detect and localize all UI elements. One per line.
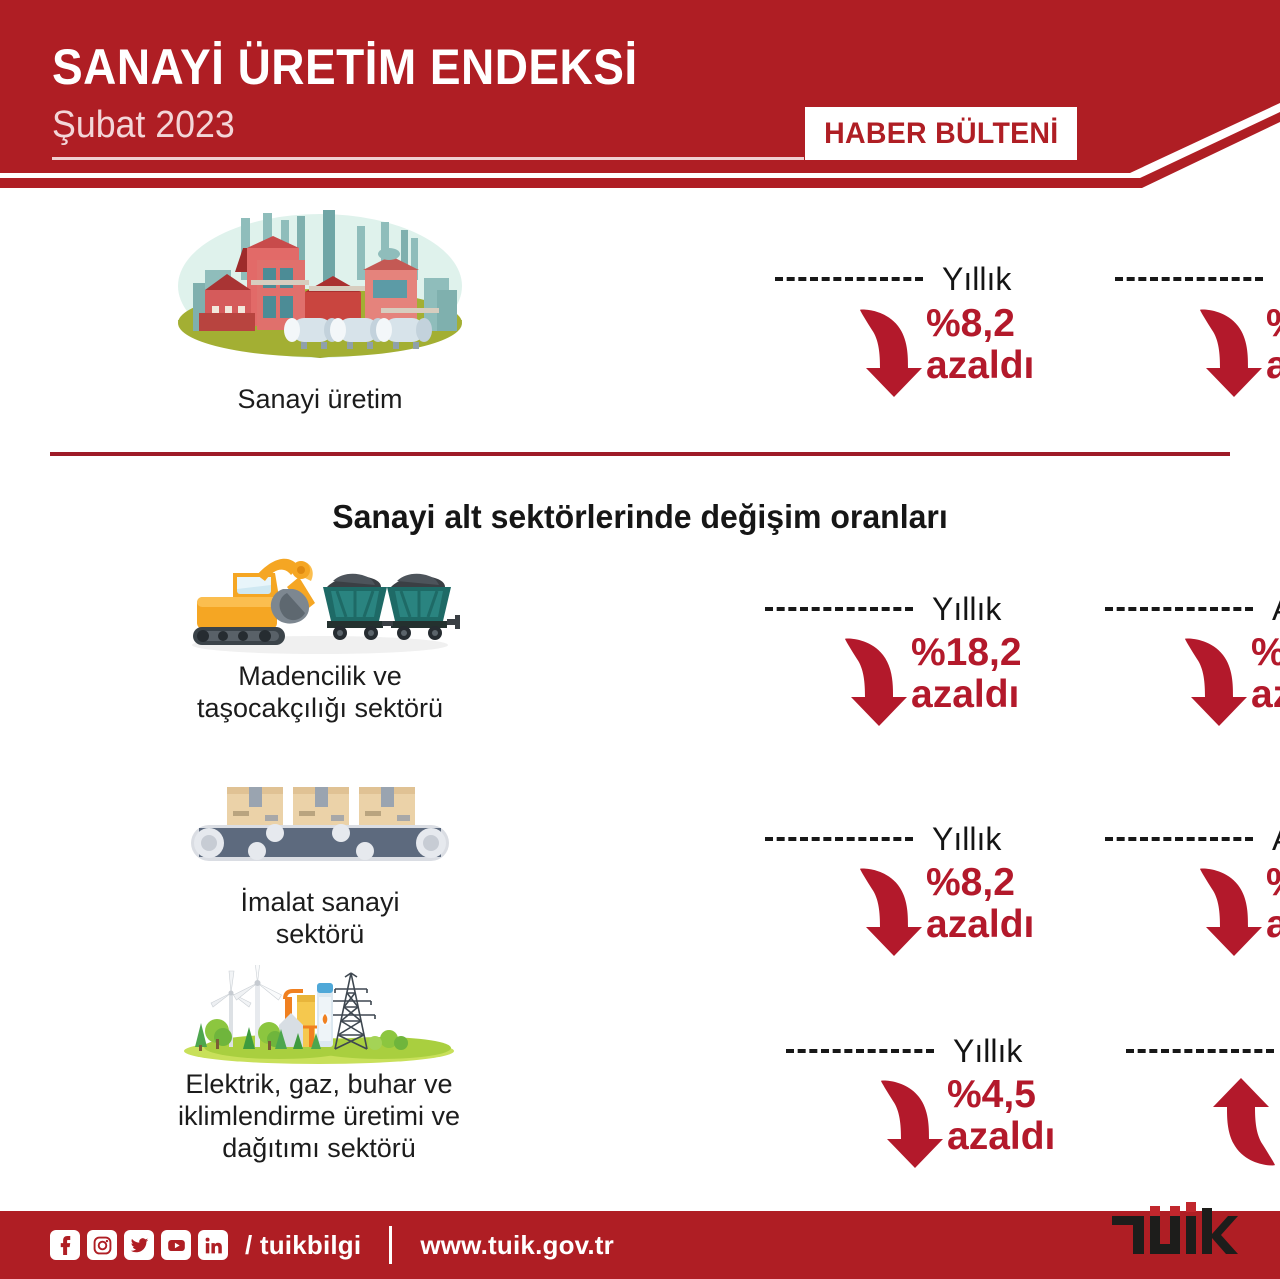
summary-monthly-header: Aylık — [1115, 263, 1280, 295]
excavator-mining-cart-illustration — [175, 545, 465, 655]
arrow-down-curved-icon — [1175, 633, 1249, 728]
sector-row-energy: Elektrik, gaz, buhar ve iklimlendirme ür… — [158, 965, 1180, 1165]
mining-illustration-cell: Madencilik ve taşocakçılığı sektörü — [170, 545, 470, 725]
manufacturing-annual-direction: azaldı — [926, 905, 1034, 945]
footer-content: / tuikbilgi www.tuik.gov.tr — [50, 1211, 614, 1279]
energy-wind-pylon-illustration — [169, 965, 469, 1065]
arrow-down-curved-icon — [1190, 863, 1264, 958]
summary-row: Sanayi üretim Yıllık Aylık %8,2 azaldı — [170, 208, 1170, 416]
annual-period-label: Yıllık — [932, 823, 1001, 855]
energy-annual-metric: %4,5 azaldı — [871, 1075, 1055, 1170]
twitter-icon[interactable] — [124, 1230, 154, 1260]
dash-line-monthly — [1115, 277, 1263, 281]
dash-line-annual — [786, 1049, 934, 1053]
manufacturing-metrics: Yıllık Aylık %8,2 azaldı % — [470, 775, 1170, 965]
header-underline — [52, 157, 804, 160]
monthly-period-label: Aylık — [1272, 593, 1280, 625]
mining-monthly-metric: %11,2 azaldı — [1175, 633, 1280, 728]
annual-period-label: Yıllık — [932, 593, 1001, 625]
energy-annual-header: Yıllık — [786, 1035, 1022, 1067]
dash-line-monthly — [1105, 837, 1253, 841]
summary-monthly-text: %6,0 azaldı — [1266, 304, 1280, 386]
mining-annual-text: %18,2 azaldı — [911, 633, 1022, 715]
manufacturing-monthly-text: %6,6 azaldı — [1266, 863, 1280, 945]
annual-period-label: Yıllık — [953, 1035, 1022, 1067]
social-links — [50, 1230, 228, 1260]
energy-annual-direction: azaldı — [947, 1117, 1055, 1157]
summary-caption: Sanayi üretim — [237, 384, 402, 416]
mining-annual-value: %18,2 — [911, 633, 1022, 673]
monthly-period-label: Aylık — [1272, 823, 1280, 855]
manufacturing-caption: İmalat sanayi sektörü — [240, 887, 399, 951]
summary-annual-metric: %8,2 azaldı — [850, 304, 1034, 399]
tuik-logo — [1108, 1196, 1238, 1258]
dash-line-annual — [765, 837, 913, 841]
page-header: SANAYİ ÜRETİM ENDEKSİ Şubat 2023 HABER B… — [0, 0, 1280, 190]
manufacturing-annual-header: Yıllık — [765, 823, 1001, 855]
section-title: Sanayi alt sektörlerinde değişim oranlar… — [19, 498, 1261, 536]
social-handle[interactable]: / tuikbilgi — [245, 1230, 361, 1261]
arrow-up-curved-icon — [1211, 1075, 1280, 1170]
footer-separator — [389, 1226, 392, 1264]
sector-row-manufacturing: İmalat sanayi sektörü Yıllık Aylık %8,2 … — [170, 775, 1170, 965]
energy-illustration-cell: Elektrik, gaz, buhar ve iklimlendirme ür… — [158, 965, 480, 1165]
energy-metrics: Yıllık Aylık %4,5 azaldı % — [480, 965, 1180, 1165]
arrow-down-curved-icon — [850, 304, 924, 399]
summary-metrics: Yıllık Aylık %8,2 azaldı — [470, 208, 1170, 408]
page-title: SANAYİ ÜRETİM ENDEKSİ — [52, 38, 638, 96]
arrow-down-curved-icon — [871, 1075, 945, 1170]
summary-annual-value: %8,2 — [926, 304, 1034, 344]
summary-annual-direction: azaldı — [926, 346, 1034, 386]
mining-monthly-text: %11,2 azaldı — [1251, 633, 1280, 715]
summary-monthly-direction: azaldı — [1266, 346, 1280, 386]
facebook-icon[interactable] — [50, 1230, 80, 1260]
manufacturing-annual-value: %8,2 — [926, 863, 1034, 903]
dash-line-monthly — [1126, 1049, 1274, 1053]
mining-monthly-value: %11,2 — [1251, 633, 1280, 673]
mining-annual-header: Yıllık — [765, 593, 1001, 625]
conveyor-belt-boxes-illustration — [175, 775, 465, 875]
factory-illustration — [175, 208, 465, 378]
youtube-icon[interactable] — [161, 1230, 191, 1260]
arrow-down-curved-icon — [835, 633, 909, 728]
mining-annual-metric: %18,2 azaldı — [835, 633, 1022, 728]
energy-annual-value: %4,5 — [947, 1075, 1055, 1115]
mining-monthly-header: Aylık — [1105, 593, 1280, 625]
website-url[interactable]: www.tuik.gov.tr — [420, 1230, 614, 1261]
manufacturing-annual-text: %8,2 azaldı — [926, 863, 1034, 945]
manufacturing-annual-metric: %8,2 azaldı — [850, 863, 1034, 958]
page-footer: / tuikbilgi www.tuik.gov.tr — [0, 1211, 1280, 1279]
summary-monthly-metric: %6,0 azaldı — [1190, 304, 1280, 399]
mining-caption: Madencilik ve taşocakçılığı sektörü — [197, 661, 443, 725]
arrow-down-curved-icon — [1190, 304, 1264, 399]
energy-monthly-metric: %1,4 arttı — [1211, 1075, 1280, 1170]
summary-annual-text: %8,2 azaldı — [926, 304, 1034, 386]
mining-monthly-direction: azaldı — [1251, 675, 1280, 715]
summary-annual-header: Yıllık — [775, 263, 1011, 295]
summary-monthly-value: %6,0 — [1266, 304, 1280, 344]
manufacturing-monthly-direction: azaldı — [1266, 905, 1280, 945]
energy-monthly-header: Aylık — [1126, 1035, 1280, 1067]
energy-annual-text: %4,5 azaldı — [947, 1075, 1055, 1157]
mining-metrics: Yıllık Aylık %18,2 azaldı — [470, 545, 1170, 735]
linkedin-icon[interactable] — [198, 1230, 228, 1260]
annual-period-label: Yıllık — [942, 263, 1011, 295]
manufacturing-monthly-metric: %6,6 azaldı — [1190, 863, 1280, 958]
dash-line-annual — [775, 277, 923, 281]
dash-line-monthly — [1105, 607, 1253, 611]
arrow-down-curved-icon — [850, 863, 924, 958]
bulletin-badge-label: HABER BÜLTENİ — [824, 117, 1058, 151]
manufacturing-monthly-value: %6,6 — [1266, 863, 1280, 903]
dash-line-annual — [765, 607, 913, 611]
summary-illustration-cell: Sanayi üretim — [170, 208, 470, 416]
manufacturing-monthly-header: Aylık — [1105, 823, 1280, 855]
sector-row-mining: Madencilik ve taşocakçılığı sektörü Yıll… — [170, 545, 1170, 735]
mining-annual-direction: azaldı — [911, 675, 1022, 715]
energy-caption: Elektrik, gaz, buhar ve iklimlendirme ür… — [178, 1069, 460, 1165]
bulletin-badge: HABER BÜLTENİ — [805, 107, 1077, 160]
page-subtitle: Şubat 2023 — [52, 104, 235, 147]
section-divider — [50, 452, 1230, 456]
manufacturing-illustration-cell: İmalat sanayi sektörü — [170, 775, 470, 951]
instagram-icon[interactable] — [87, 1230, 117, 1260]
